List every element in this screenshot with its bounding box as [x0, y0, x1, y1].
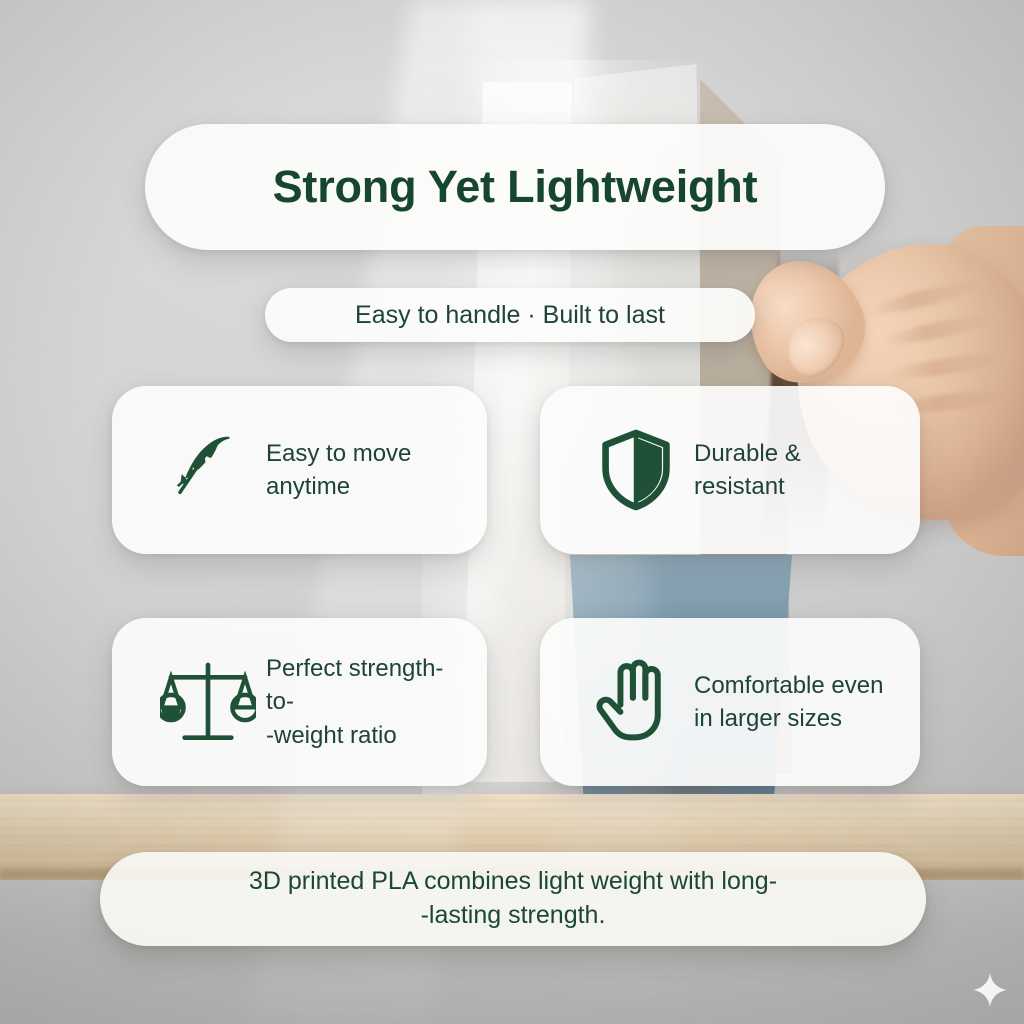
feature-line-2: anytime	[266, 470, 411, 503]
feature-card-strength-to-weight[interactable]: Perfect strength-to- -weight ratio	[112, 618, 487, 786]
footer-line-2: -lasting strength.	[249, 899, 777, 933]
feature-card-easy-to-move[interactable]: Easy to move anytime	[112, 386, 487, 554]
feature-card-durable[interactable]: Durable & resistant	[540, 386, 920, 554]
feature-line-1: Durable &	[694, 437, 801, 470]
footer-line-1: 3D printed PLA combines light weight wit…	[249, 865, 777, 899]
hand-icon	[588, 658, 684, 746]
feature-line-1: Perfect strength-to-	[266, 652, 469, 718]
subtitle-pill: Easy to handle · Built to last	[265, 288, 755, 342]
infographic-stage: Strong Yet Lightweight Easy to handle · …	[0, 0, 1024, 1024]
title-pill: Strong Yet Lightweight	[145, 124, 885, 250]
feature-text: Easy to move anytime	[266, 437, 411, 503]
feature-card-comfortable[interactable]: Comfortable even in larger sizes	[540, 618, 920, 786]
feature-line-2: resistant	[694, 470, 801, 503]
sparkle-icon	[970, 970, 1010, 1010]
page-subtitle: Easy to handle · Built to last	[355, 301, 665, 330]
overlay-ui: Strong Yet Lightweight Easy to handle · …	[0, 0, 1024, 1024]
page-title: Strong Yet Lightweight	[273, 162, 758, 212]
feature-line-1: Comfortable even	[694, 669, 883, 702]
feather-icon	[160, 428, 256, 512]
feature-text: Comfortable even in larger sizes	[694, 669, 883, 735]
feature-line-2: in larger sizes	[694, 702, 883, 735]
shield-icon	[588, 429, 684, 511]
feature-text: Durable & resistant	[694, 437, 801, 503]
footer-caption: 3D printed PLA combines light weight wit…	[249, 865, 777, 933]
feature-text: Perfect strength-to- -weight ratio	[266, 652, 469, 751]
feature-line-1: Easy to move	[266, 437, 411, 470]
scales-icon	[160, 656, 256, 748]
footer-pill: 3D printed PLA combines light weight wit…	[100, 852, 926, 946]
feature-line-2: -weight ratio	[266, 719, 469, 752]
